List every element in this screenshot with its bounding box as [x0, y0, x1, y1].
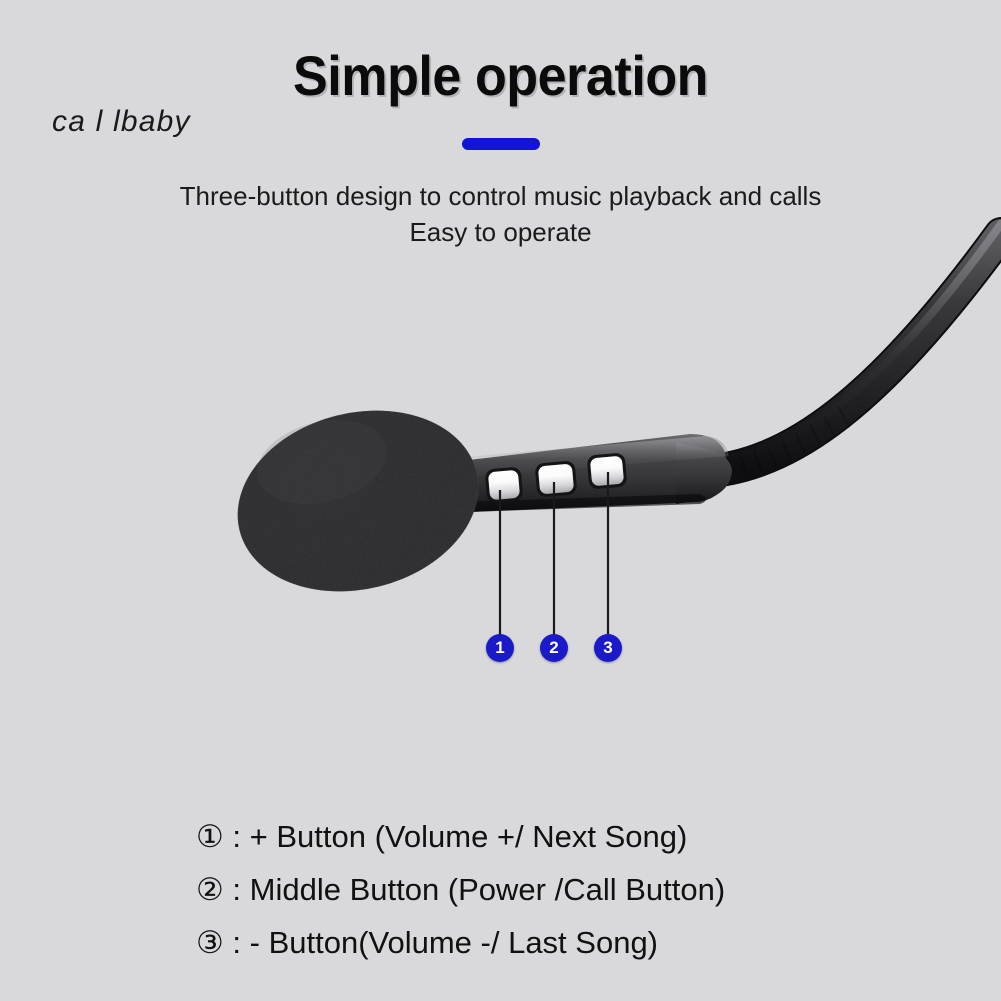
legend-row-3: ③ : - Button(Volume -/ Last Song) — [196, 916, 966, 969]
legend-marker-1: ① — [196, 819, 224, 854]
legend-list: ① : + Button (Volume +/ Next Song) ② : M… — [196, 810, 966, 969]
legend-row-2: ② : Middle Button (Power /Call Button) — [196, 863, 966, 916]
callout-badge-2[interactable]: 2 — [540, 634, 568, 662]
foam-windscreen — [218, 386, 497, 616]
brand-wordmark: ca l lbaby — [52, 105, 191, 139]
callout-badge-1[interactable]: 1 — [486, 634, 514, 662]
legend-text-3: : - Button(Volume -/ Last Song) — [224, 925, 658, 960]
product-infographic: Simple operation ca l lbaby Three-button… — [0, 0, 1001, 1001]
control-module-body — [442, 432, 732, 514]
legend-row-1: ① : + Button (Volume +/ Next Song) — [196, 810, 966, 863]
legend-text-1: : + Button (Volume +/ Next Song) — [224, 819, 688, 854]
page-title: Simple operation — [35, 44, 966, 108]
legend-marker-3: ③ — [196, 925, 224, 960]
accent-underline-bar — [462, 138, 540, 150]
subtitle-line-1: Three-button design to control music pla… — [0, 178, 1001, 214]
gooseneck-cable — [700, 224, 1001, 480]
legend-text-2: : Middle Button (Power /Call Button) — [224, 872, 725, 907]
button-middle-power-call[interactable] — [535, 460, 578, 497]
callout-badge-3[interactable]: 3 — [594, 634, 622, 662]
button-volume-up[interactable] — [485, 466, 524, 503]
legend-marker-2: ② — [196, 872, 224, 907]
